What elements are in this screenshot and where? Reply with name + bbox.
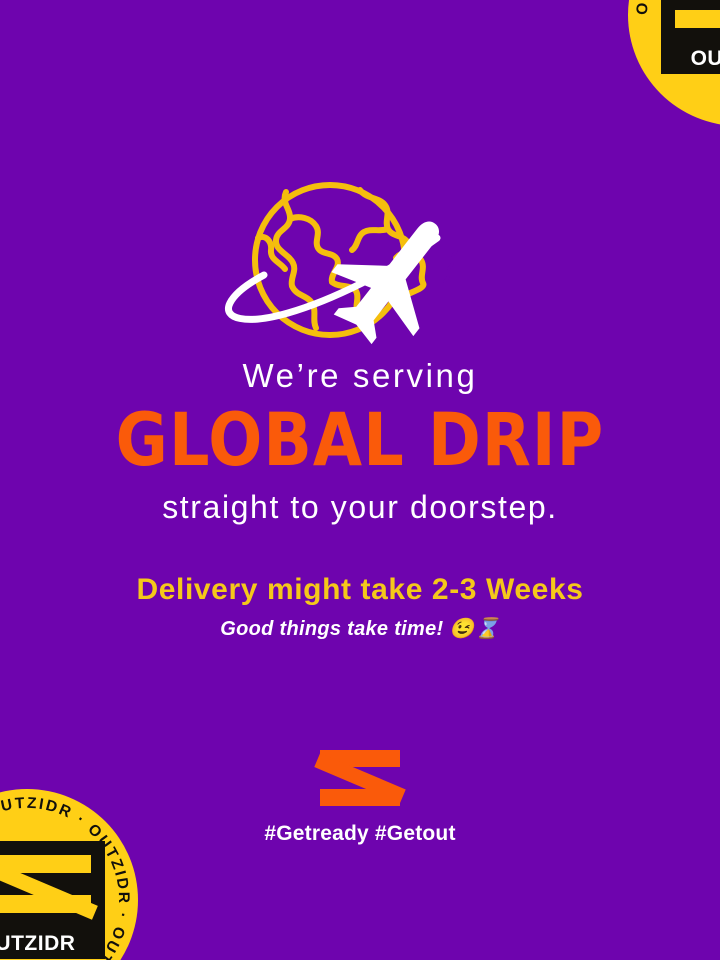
- outzidr-z-logo-icon: [320, 750, 400, 806]
- airplane-icon: [312, 192, 476, 345]
- hero-illustration: [0, 170, 720, 345]
- eyebrow-text: We’re serving: [0, 358, 720, 394]
- badge-core: OUTZIDR: [661, 0, 720, 74]
- tagline-text: Good things take time! 😉⌛: [0, 618, 720, 640]
- globe-plane-graphic: [0, 170, 720, 345]
- badge-z-logo-icon: [675, 0, 720, 28]
- delivery-notice-text: Delivery might take 2-3 Weeks: [0, 573, 720, 606]
- badge-z-logo-icon: [0, 855, 91, 913]
- badge-core-wordbar: OUTZIDR: [0, 927, 105, 959]
- brand-badge-top-right: OUTZIDR · OUTZIDR · OUTZIDR · OUTZIDR · …: [628, 0, 720, 126]
- badge-core-mark: [661, 0, 720, 42]
- badge-core-wordmark: OUTZIDR: [0, 933, 75, 954]
- badge-core-mark: [0, 841, 105, 927]
- copy-block: We’re serving GLOBAL DRIP straight to yo…: [0, 358, 720, 640]
- airplane-window-stripes: [442, 249, 458, 284]
- headline-text: GLOBAL DRIP: [0, 403, 720, 480]
- badge-core-wordmark: OUTZIDR: [691, 48, 720, 69]
- brand-badge-bottom-left: OUTZIDR · OUTZIDR · OUTZIDR · OUTZIDR · …: [0, 789, 138, 960]
- badge-core: OUTZIDR: [0, 841, 105, 959]
- subhead-text: straight to your doorstep.: [0, 490, 720, 525]
- poster-canvas: We’re serving GLOBAL DRIP straight to yo…: [0, 0, 720, 960]
- badge-core-wordbar: OUTZIDR: [661, 42, 720, 74]
